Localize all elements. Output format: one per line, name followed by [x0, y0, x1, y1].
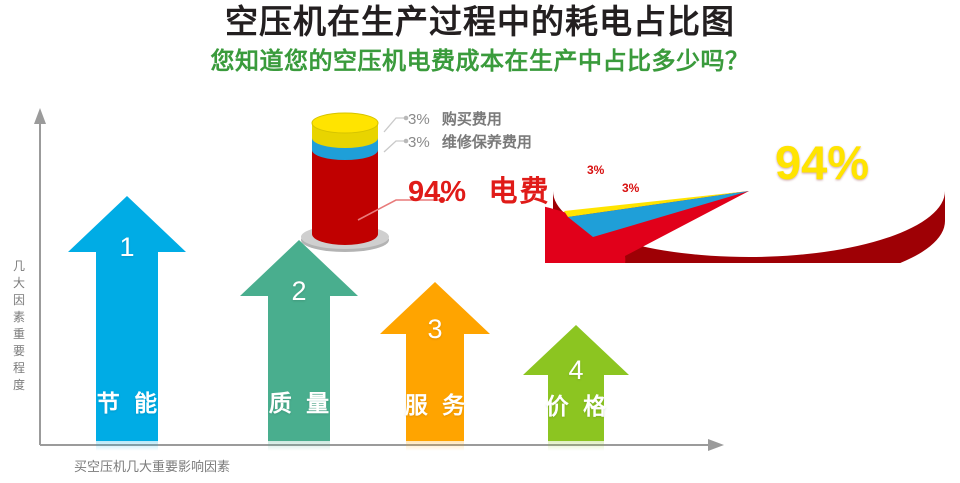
factor-arrow-2-reflection	[268, 441, 330, 451]
callout-electricity-label: 电费	[489, 176, 551, 208]
page-title: 空压机在生产过程中的耗电占比图	[0, 2, 960, 42]
factor-arrow-4-label: 价 格	[523, 387, 629, 421]
cylinder-chart	[290, 112, 400, 257]
callout-electricity: 94% 电费	[408, 168, 551, 210]
x-axis-label: 买空压机几大重要影响因素	[74, 456, 230, 475]
factor-arrow-3: 3 服 务	[380, 282, 490, 441]
factor-arrow-1-label: 节 能	[68, 384, 186, 418]
pie-label-purchase: 3%	[587, 163, 604, 177]
infographic-canvas: 空压机在生产过程中的耗电占比图 您知道您的空压机电费成本在生产中占比多少吗？ 几…	[0, 0, 960, 483]
factor-arrow-2: 2 质 量	[240, 240, 358, 441]
factor-arrow-4: 4 价 格	[523, 325, 629, 441]
callout-maintenance-percent: 3%	[408, 134, 430, 151]
factor-arrow-3-label: 服 务	[380, 386, 490, 420]
factor-arrow-3-rank: 3	[380, 314, 490, 345]
factor-arrow-2-label: 质 量	[240, 384, 358, 418]
cylinder-top	[312, 113, 378, 133]
factor-arrow-2-rank: 2	[240, 276, 358, 307]
callout-electricity-percent: 94%	[408, 176, 466, 208]
callout-purchase-label: 购买费用	[442, 111, 502, 128]
factor-arrow-4-rank: 4	[523, 355, 629, 386]
callout-purchase-percent: 3%	[408, 111, 430, 128]
factor-arrow-1-reflection	[96, 441, 158, 451]
factor-arrow-1: 1 节 能	[68, 196, 186, 441]
pie-label-electricity: 94%	[775, 135, 869, 190]
pie-chart-shape	[545, 113, 945, 263]
factor-arrow-1-rank: 1	[68, 232, 186, 263]
callout-maintenance-label: 维修保养费用	[442, 134, 532, 151]
callout-maintenance: 3% 维修保养费用	[408, 131, 532, 152]
callout-purchase: 3% 购买费用	[408, 108, 502, 129]
factor-arrow-4-reflection	[548, 441, 604, 451]
factor-arrow-3-reflection	[406, 441, 464, 451]
pie-label-maintenance: 3%	[622, 181, 639, 195]
cylinder-chart-shape	[290, 112, 400, 257]
pie-chart: 94% 3% 3%	[545, 113, 945, 263]
y-axis-label: 几大因素重要程度	[8, 258, 30, 394]
page-subtitle: 您知道您的空压机电费成本在生产中占比多少吗？	[0, 47, 960, 77]
